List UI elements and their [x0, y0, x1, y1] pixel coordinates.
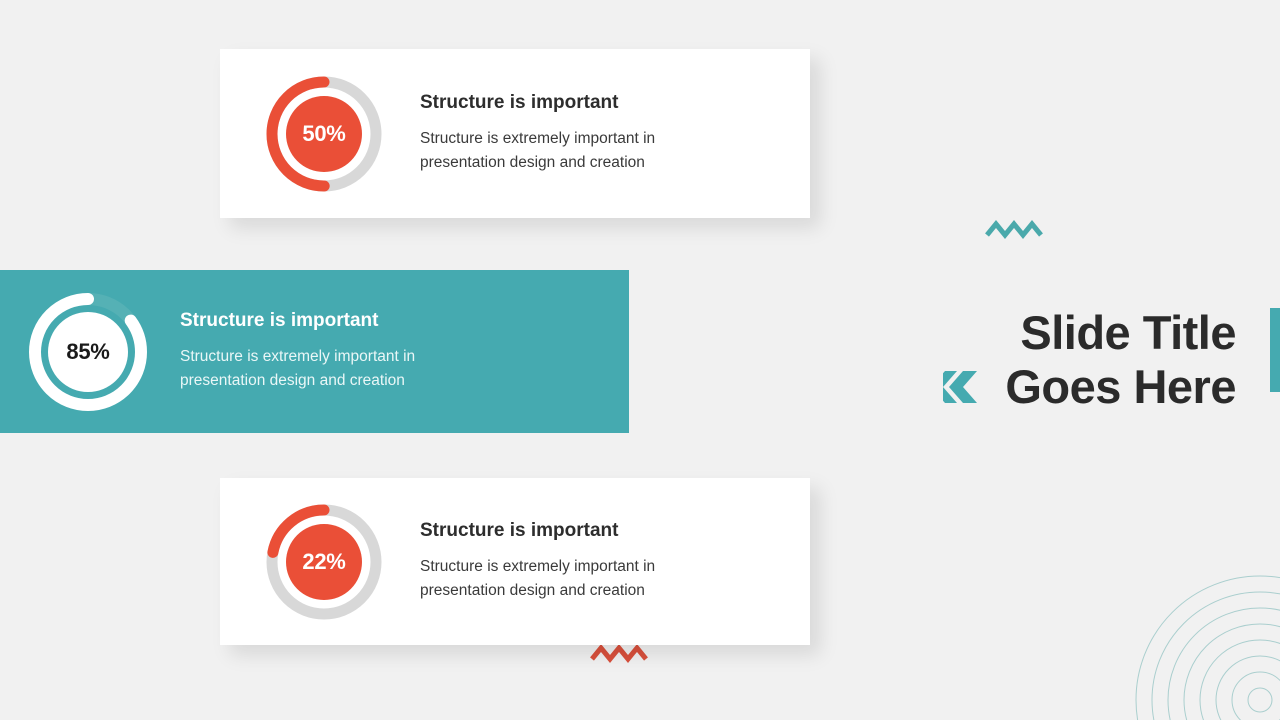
right-accent-bar — [1270, 308, 1280, 392]
slide-title-line-2: Goes Here — [1005, 360, 1236, 414]
donut-value-50: 50% — [260, 70, 388, 198]
stat-card-22[interactable]: 22% Structure is important Structure is … — [220, 478, 810, 645]
card-text-block: Structure is important Structure is extr… — [420, 92, 810, 175]
slide-canvas: 50% Structure is important Structure is … — [0, 0, 1280, 720]
donut-value-22: 22% — [260, 498, 388, 626]
donut-chart-22: 22% — [260, 498, 388, 626]
stat-card-85[interactable]: 85% Structure is important Structure is … — [0, 270, 629, 433]
card-body: Structure is extremely important in pres… — [180, 345, 460, 393]
zigzag-teal-single-icon — [985, 217, 1043, 241]
donut-chart-50: 50% — [260, 70, 388, 198]
card-title: Structure is important — [180, 310, 629, 333]
slide-title-block: Slide Title Goes Here — [860, 306, 1236, 414]
double-chevron-left-icon — [943, 369, 987, 405]
donut-chart-85: 85% — [22, 286, 154, 418]
concentric-rings-decoration — [1100, 540, 1280, 720]
slide-title-line-1: Slide Title — [860, 306, 1236, 360]
card-body: Structure is extremely important in pres… — [420, 127, 700, 175]
card-text-block: Structure is important Structure is extr… — [420, 520, 810, 603]
card-title: Structure is important — [420, 92, 810, 115]
slide-title-line-2-row: Goes Here — [860, 360, 1236, 414]
card-title: Structure is important — [420, 520, 810, 543]
stat-card-50[interactable]: 50% Structure is important Structure is … — [220, 49, 810, 218]
card-text-block: Structure is important Structure is extr… — [180, 310, 629, 393]
donut-value-85: 85% — [22, 286, 154, 418]
card-body: Structure is extremely important in pres… — [420, 555, 700, 603]
